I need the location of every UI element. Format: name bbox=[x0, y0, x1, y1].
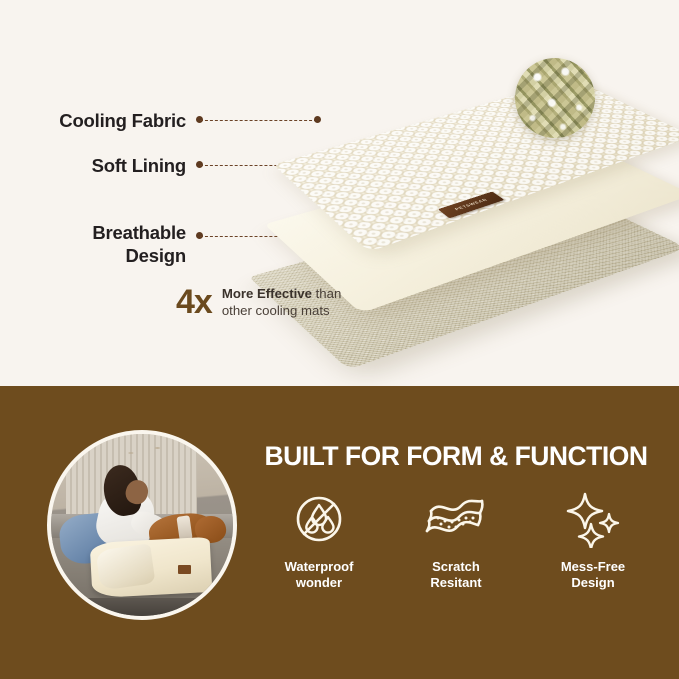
photo-sofa-base bbox=[69, 598, 215, 616]
feature-label-waterproof: Waterproof wonder bbox=[285, 559, 354, 591]
feature-label-line2: Design bbox=[571, 575, 614, 590]
photo-mat-fold bbox=[96, 543, 156, 590]
feature-label-line1: Mess-Free bbox=[561, 559, 625, 574]
spec-label-breathable-line2: Design bbox=[126, 245, 186, 266]
feature-label-scratch: Scratch Resitant bbox=[430, 559, 481, 591]
fiber-highlights bbox=[515, 58, 595, 138]
sparkle-icon bbox=[564, 488, 622, 550]
scratch-resistant-icon bbox=[425, 488, 487, 550]
quilted-top-layer bbox=[309, 65, 669, 235]
claim-text: More Effective than other cooling mats bbox=[222, 285, 342, 320]
feature-label-mess-free: Mess-Free Design bbox=[561, 559, 625, 591]
lifestyle-photo bbox=[51, 434, 233, 616]
claim-rest-text: than bbox=[312, 286, 341, 301]
feature-waterproof: Waterproof wonder bbox=[258, 488, 380, 591]
product-infographic: Cooling Fabric Soft Lining Breathable De… bbox=[0, 0, 679, 679]
spec-label-cooling-fabric: Cooling Fabric bbox=[0, 110, 186, 133]
photo-mat-tag bbox=[178, 565, 191, 574]
spec-label-soft-lining: Soft Lining bbox=[0, 155, 186, 178]
top-features-section: Cooling Fabric Soft Lining Breathable De… bbox=[0, 0, 679, 386]
waterproof-icon bbox=[291, 488, 347, 550]
claim-multiplier: 4x bbox=[176, 285, 212, 319]
feature-label-line1: Waterproof bbox=[285, 559, 354, 574]
feature-mess-free: Mess-Free Design bbox=[532, 488, 654, 591]
lifestyle-photo-ring bbox=[47, 430, 237, 620]
feature-label-line1: Scratch bbox=[432, 559, 480, 574]
spec-label-breathable-design: Breathable Design bbox=[0, 222, 186, 267]
claim-bold-text: More Effective bbox=[222, 286, 312, 301]
feature-list: Waterproof wonder bbox=[258, 488, 654, 591]
quilted-layer-surface bbox=[273, 79, 679, 253]
fabric-closeup-inset bbox=[515, 58, 595, 138]
feature-scratch-resistant: Scratch Resitant bbox=[395, 488, 517, 591]
claim-second-line: other cooling mats bbox=[222, 303, 330, 318]
effectiveness-claim: 4x More Effective than other cooling mat… bbox=[176, 285, 341, 320]
banner-heading: BUILT FOR FORM & FUNCTION bbox=[258, 442, 654, 471]
photo-wall-art bbox=[106, 438, 190, 463]
feature-label-line2: Resitant bbox=[430, 575, 481, 590]
feature-label-line2: wonder bbox=[296, 575, 342, 590]
spec-label-breathable-line1: Breathable bbox=[92, 222, 186, 243]
